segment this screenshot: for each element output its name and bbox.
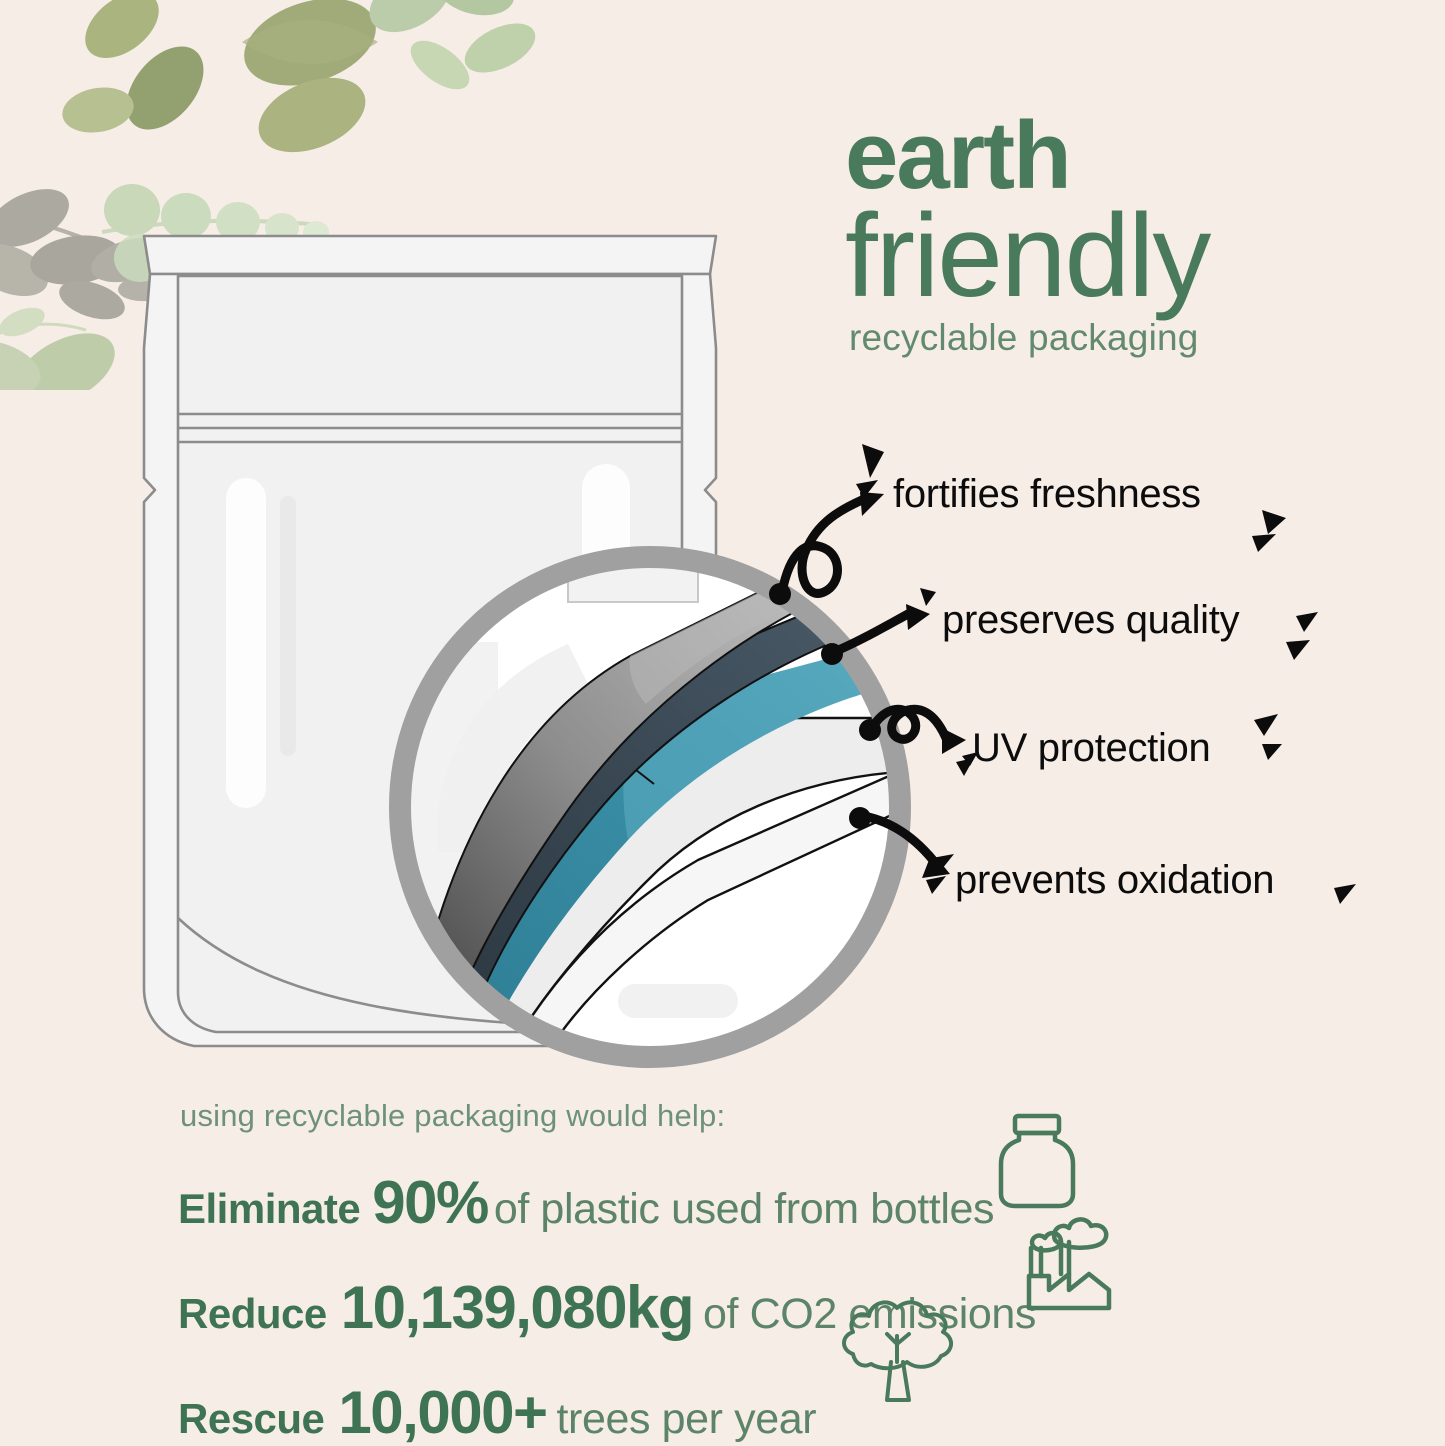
stat-tail: of plastic used from bottles bbox=[494, 1185, 994, 1234]
callout-label-fortifies-freshness: fortifies freshness bbox=[893, 472, 1201, 517]
layer-magnifier bbox=[378, 522, 923, 1092]
stat-figure: 10,000+ bbox=[338, 1378, 546, 1446]
stat-verb: Reduce bbox=[178, 1290, 327, 1338]
callout-label-uv-protection: UV protection bbox=[972, 726, 1210, 771]
stats-intro: using recyclable packaging would help: bbox=[180, 1098, 1278, 1134]
stat-verb: Eliminate bbox=[178, 1185, 360, 1233]
callout-label-prevents-oxidation: prevents oxidation bbox=[955, 858, 1274, 903]
factory-icon bbox=[1017, 1212, 1125, 1312]
page-title-line-2: friendly bbox=[845, 202, 1405, 311]
page-subtitle: recyclable packaging bbox=[849, 317, 1405, 359]
tree-icon bbox=[833, 1292, 961, 1416]
stat-verb: Rescue bbox=[178, 1395, 324, 1443]
stat-tail: trees per year bbox=[556, 1395, 816, 1444]
stat-figure: 10,139,080kg bbox=[341, 1273, 693, 1342]
callout-label-preserves-quality: preserves quality bbox=[942, 598, 1239, 643]
stat-figure: 90% bbox=[372, 1168, 488, 1237]
bottle-icon bbox=[995, 1110, 1087, 1210]
stat-row-rescue: Rescue 10,000+ trees per year bbox=[178, 1378, 1278, 1446]
infographic-page: earth friendly recyclable packaging fort… bbox=[0, 0, 1445, 1446]
page-title-line-1: earth bbox=[845, 112, 1405, 200]
headline-block: earth friendly recyclable packaging bbox=[845, 112, 1405, 359]
